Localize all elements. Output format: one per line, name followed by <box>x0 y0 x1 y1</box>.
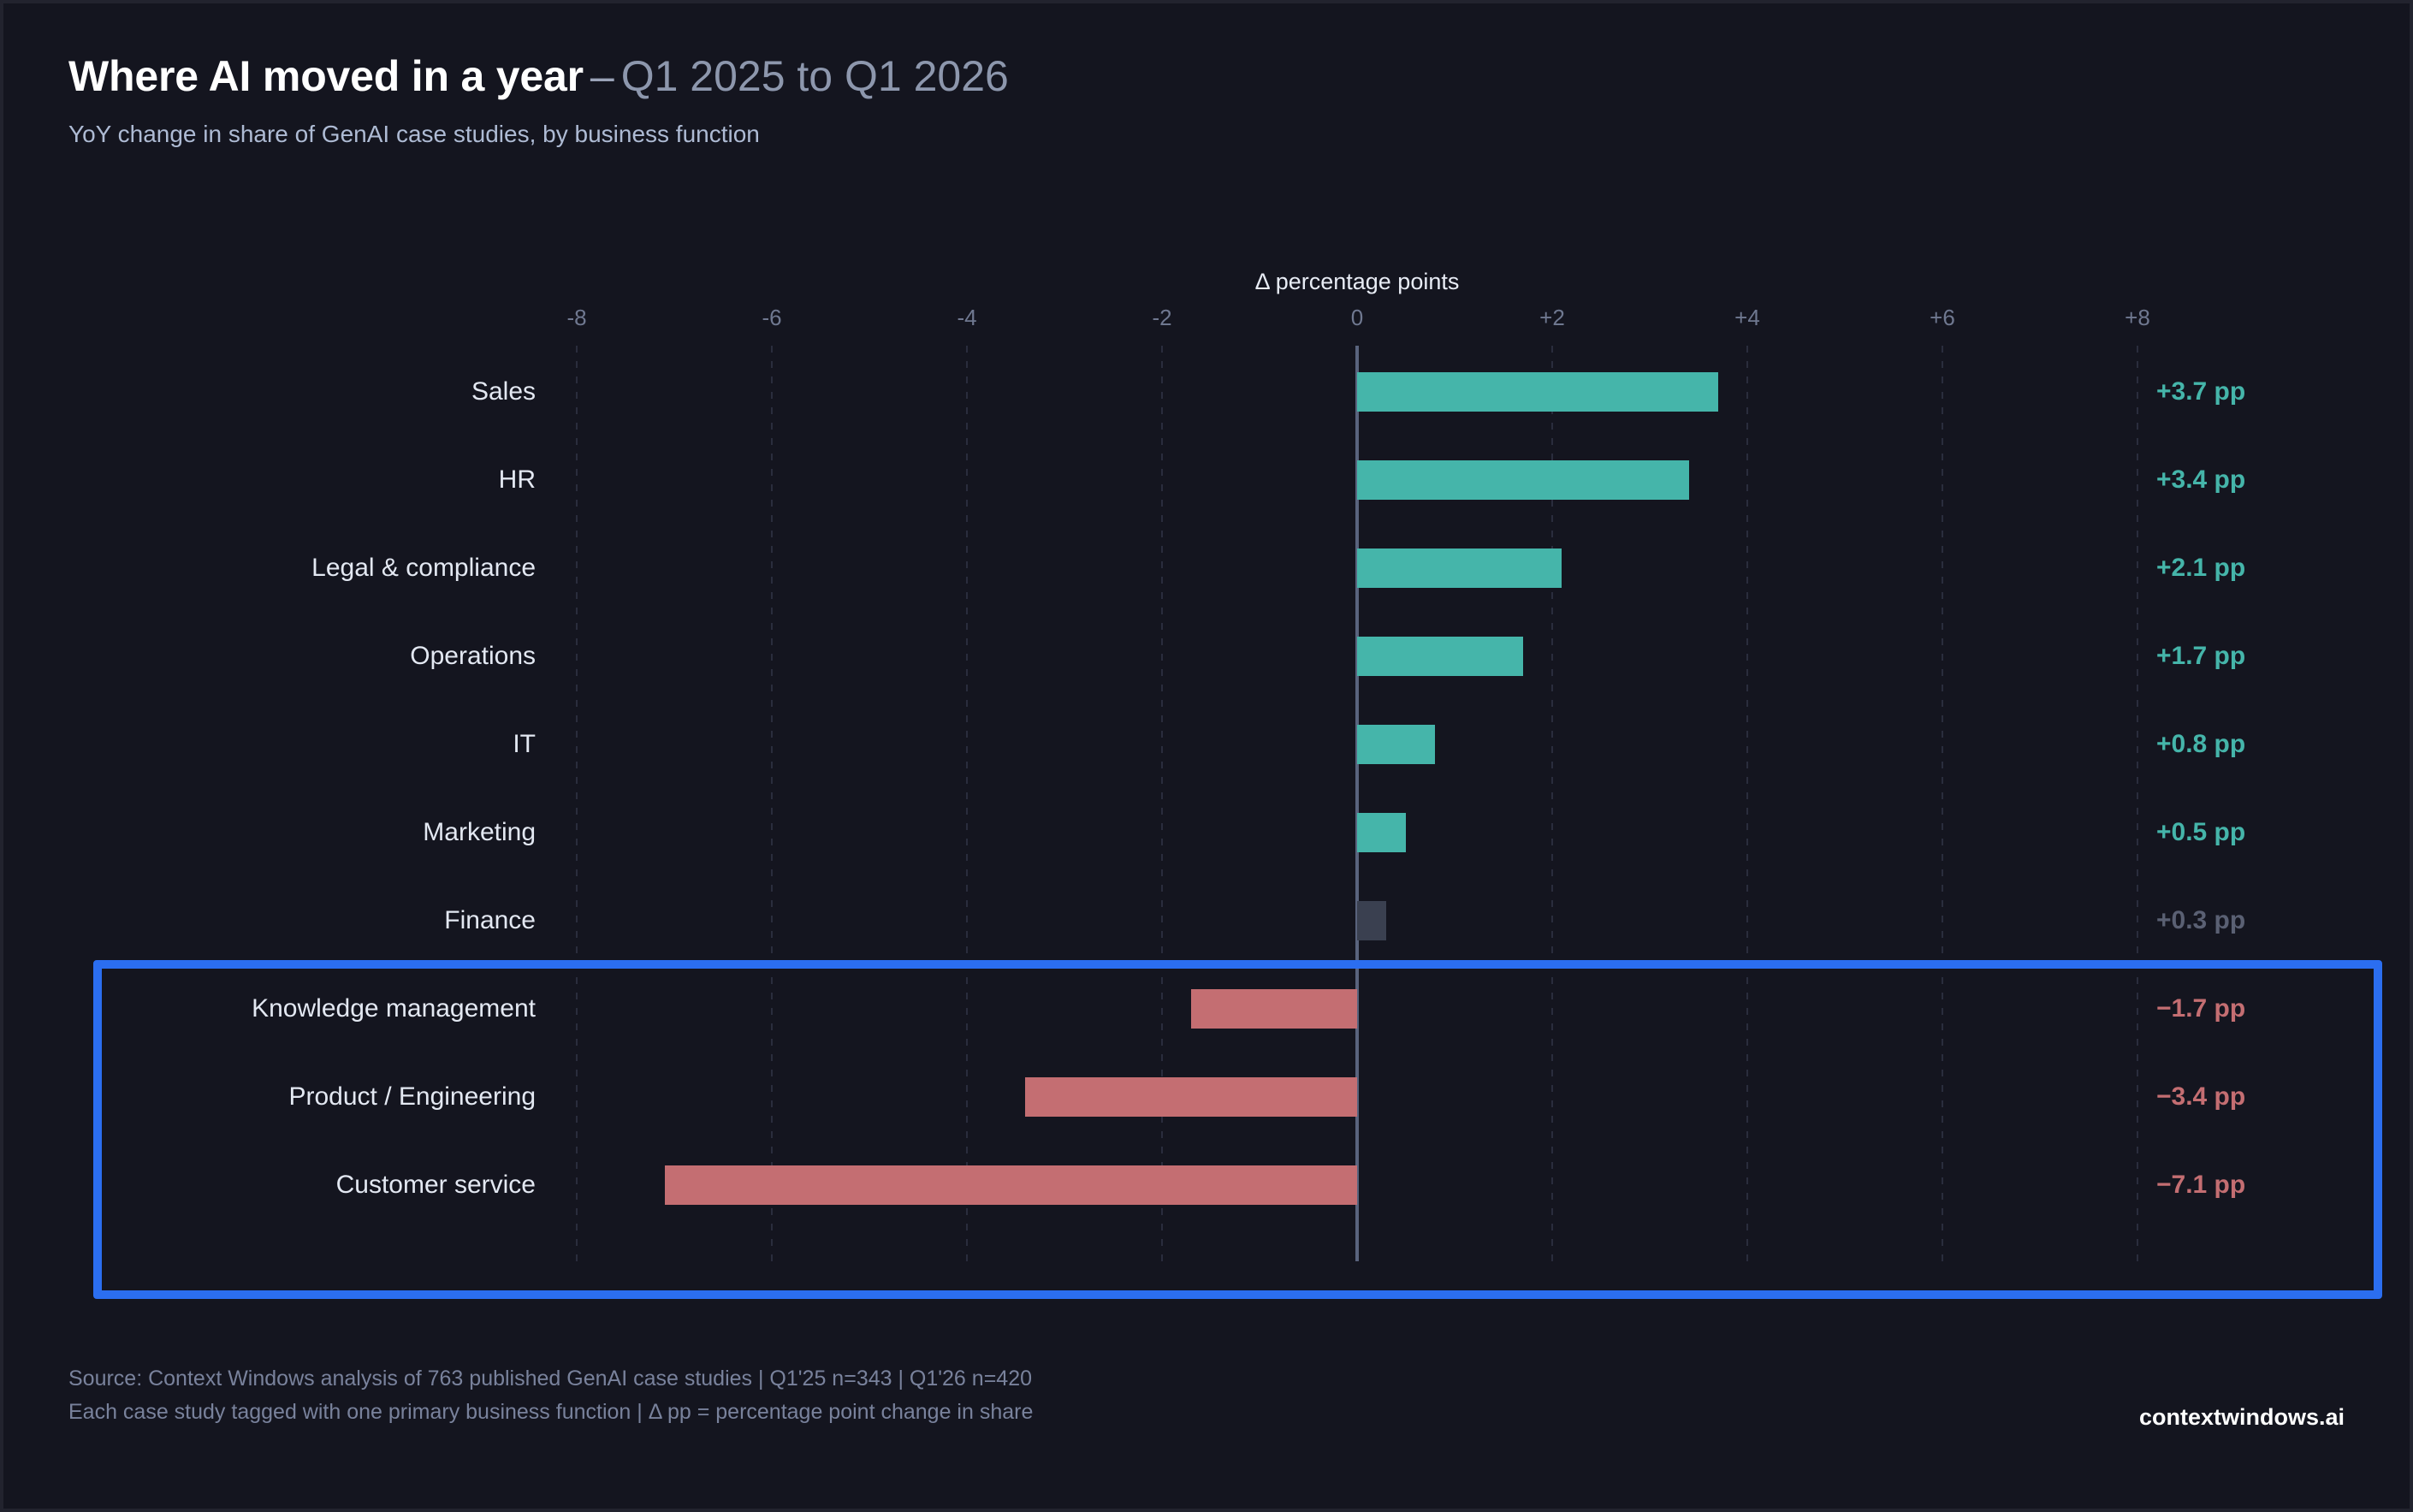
bar-value-label: +2.1 pp <box>2156 554 2245 583</box>
chart-canvas: Where AI moved in a year–Q1 2025 to Q1 2… <box>0 0 2413 1512</box>
bar-row[interactable]: IT+0.8 pp <box>3 700 2413 788</box>
bar-value-label: −1.7 pp <box>2156 994 2245 1023</box>
bar-row[interactable]: HR+3.4 pp <box>3 436 2413 524</box>
category-label: Operations <box>410 642 536 671</box>
x-tick-label: -8 <box>566 305 586 331</box>
bar-value-label: +1.7 pp <box>2156 642 2245 671</box>
bar-row[interactable]: Marketing+0.5 pp <box>3 788 2413 876</box>
footer-method-line: Each case study tagged with one primary … <box>68 1396 1033 1429</box>
bar-row[interactable]: Knowledge management−1.7 pp <box>3 964 2413 1052</box>
category-label: HR <box>499 465 536 495</box>
bar[interactable] <box>1357 460 1689 500</box>
bar[interactable] <box>1357 637 1523 676</box>
bar-value-label: +0.8 pp <box>2156 730 2245 759</box>
category-label: Legal & compliance <box>311 554 536 583</box>
x-axis-title: Δ percentage points <box>1255 269 1460 295</box>
category-label: Customer service <box>336 1171 536 1200</box>
bar-value-label: +0.5 pp <box>2156 818 2245 847</box>
bar[interactable] <box>1357 813 1406 852</box>
bar-row[interactable]: Finance+0.3 pp <box>3 876 2413 964</box>
x-tick-label: -2 <box>1152 305 1171 331</box>
plot-area: Δ percentage points -8-6-4-20+2+4+6+8 Sa… <box>3 3 2413 1512</box>
bar-row[interactable]: Customer service−7.1 pp <box>3 1141 2413 1229</box>
footer-source-line: Source: Context Windows analysis of 763 … <box>68 1362 1033 1396</box>
bar[interactable] <box>665 1165 1357 1205</box>
bar[interactable] <box>1191 989 1357 1029</box>
x-tick-label: -6 <box>762 305 781 331</box>
brand-watermark: contextwindows.ai <box>2139 1404 2345 1431</box>
bar[interactable] <box>1357 372 1718 412</box>
category-label: Product / Engineering <box>288 1082 536 1112</box>
bar-row[interactable]: Legal & compliance+2.1 pp <box>3 524 2413 612</box>
bar[interactable] <box>1357 548 1562 588</box>
bar[interactable] <box>1357 901 1386 940</box>
bar-value-label: +0.3 pp <box>2156 906 2245 935</box>
bar-value-label: −7.1 pp <box>2156 1171 2245 1200</box>
bar-row[interactable]: Operations+1.7 pp <box>3 612 2413 700</box>
category-label: Sales <box>471 377 536 406</box>
bar[interactable] <box>1357 725 1435 764</box>
bar-row[interactable]: Sales+3.7 pp <box>3 347 2413 436</box>
x-tick-label: -4 <box>957 305 976 331</box>
category-label: IT <box>513 730 536 759</box>
category-label: Finance <box>444 906 536 935</box>
category-label: Marketing <box>423 818 536 847</box>
bar-value-label: −3.4 pp <box>2156 1082 2245 1112</box>
x-tick-label: +6 <box>1930 305 1955 331</box>
bar-row[interactable]: Product / Engineering−3.4 pp <box>3 1052 2413 1141</box>
bar-value-label: +3.4 pp <box>2156 465 2245 495</box>
x-tick-label: 0 <box>1351 305 1363 331</box>
bar-value-label: +3.7 pp <box>2156 377 2245 406</box>
chart-footer: Source: Context Windows analysis of 763 … <box>68 1362 1033 1429</box>
category-label: Knowledge management <box>252 994 536 1023</box>
x-tick-label: +8 <box>2125 305 2150 331</box>
x-tick-label: +2 <box>1539 305 1565 331</box>
x-tick-label: +4 <box>1734 305 1760 331</box>
bar[interactable] <box>1025 1077 1357 1117</box>
